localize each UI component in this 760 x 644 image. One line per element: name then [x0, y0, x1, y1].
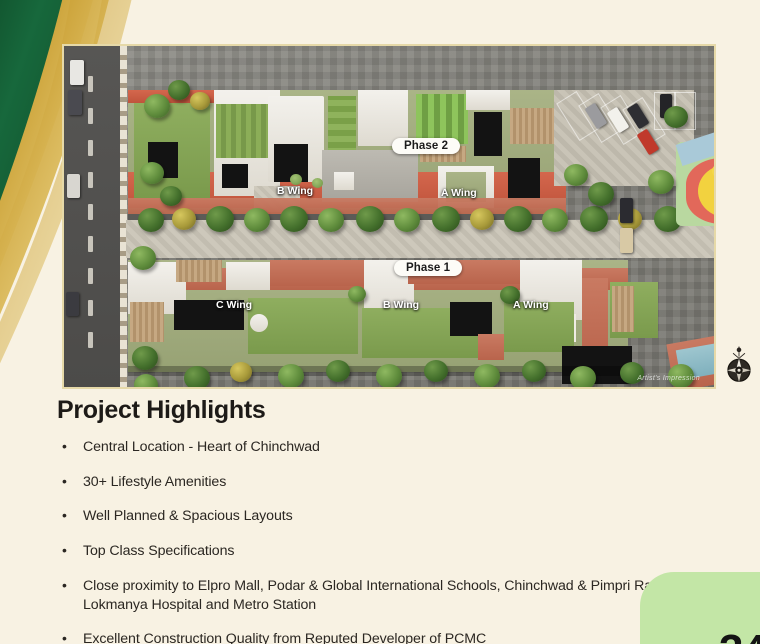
- phase1-paver-b: [478, 334, 504, 360]
- phase2-roof-white: [466, 90, 510, 110]
- slide-canvas: Phase 2 Phase 1 B Wing A Wing C Wing B W…: [0, 0, 760, 644]
- page-number-panel: 34: [640, 572, 760, 644]
- page-title: Project Highlights: [57, 396, 266, 425]
- car: [620, 228, 633, 253]
- phase2-pool-dark: [474, 112, 502, 156]
- car: [67, 174, 80, 198]
- list-item: 30+ Lifestyle Amenities: [57, 473, 747, 492]
- phase2-court-right: [508, 158, 540, 200]
- car: [66, 292, 79, 316]
- wing-label-phase2-a: A Wing: [441, 187, 477, 199]
- phase-label-2: Phase 2: [392, 138, 460, 154]
- phase2-shaft: [222, 164, 248, 188]
- phase1-block-c2: [226, 262, 270, 290]
- artist-impression-watermark: Artist's Impression: [637, 375, 700, 382]
- phase1-court-b: [450, 302, 492, 336]
- car: [68, 90, 82, 115]
- list-item: Top Class Specifications: [57, 542, 747, 561]
- phase1-deck-right: [612, 286, 634, 332]
- phase2-garden: [416, 94, 468, 144]
- phase1-pergola-c: [176, 260, 222, 282]
- phase2-pergola: [510, 108, 558, 144]
- phase2-kiosk: [334, 172, 354, 190]
- wing-label-phase1-c: C Wing: [216, 299, 252, 311]
- phase1-roof-terr: [270, 260, 370, 286]
- wing-label-phase1-b: B Wing: [383, 299, 419, 311]
- wing-label-phase2-b: B Wing: [277, 185, 313, 197]
- phase2-planter: [328, 96, 356, 154]
- list-item: Central Location - Heart of Chinchwad: [57, 438, 747, 457]
- phase2-green-strip: [216, 104, 274, 158]
- plan-kerb: [120, 46, 127, 387]
- phase-label-1: Phase 1: [394, 260, 462, 276]
- site-plan-image: Phase 2 Phase 1 B Wing A Wing C Wing B W…: [62, 44, 716, 389]
- wing-label-phase1-a: A Wing: [513, 299, 549, 311]
- phase1-deck-c: [130, 302, 164, 342]
- car: [620, 198, 633, 223]
- page-number: 34: [719, 626, 760, 644]
- car: [70, 60, 84, 85]
- list-item: Well Planned & Spacious Layouts: [57, 507, 747, 526]
- phase1-gazebo: [250, 314, 268, 332]
- compass-rose-icon: [722, 346, 756, 386]
